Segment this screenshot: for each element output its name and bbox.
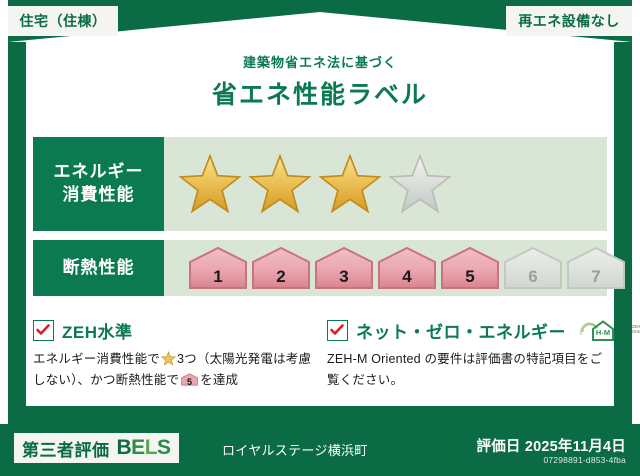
- net-zero-criteria-description: ZEH-M Oriented の要件は評価書の特記項目をご覧ください。: [327, 349, 610, 390]
- net-zero-energy-criteria-block: ネット・ゼロ・エネルギー H-M ZEH-M Oriented ZEH-M Or…: [327, 318, 610, 390]
- insulation-level-6: 6: [503, 246, 563, 290]
- label-title: 省エネ性能ラベル: [0, 75, 640, 111]
- energy-performance-label-box: エネルギー 消費性能: [33, 137, 164, 231]
- zeh-criteria-header: ZEH水準: [33, 318, 316, 342]
- insulation-rating-area: 1 2 3 4: [164, 240, 626, 296]
- net-zero-checkbox[interactable]: [327, 320, 348, 341]
- evaluation-date: 評価日 2025年11月4日: [477, 435, 626, 456]
- net-zero-criteria-header: ネット・ゼロ・エネルギー H-M ZEH-M Oriented: [327, 318, 610, 342]
- inline-house-number: 5: [181, 378, 198, 387]
- insulation-performance-label-box: 断熱性能: [33, 240, 164, 296]
- net-zero-criteria-title: ネット・ゼロ・エネルギー: [356, 318, 566, 343]
- zeh-desc-part1: エネルギー消費性能で: [33, 352, 160, 366]
- insulation-level-1: 1: [188, 246, 248, 290]
- insulation-level-2: 2: [251, 246, 311, 290]
- zeh-checkbox[interactable]: [33, 320, 54, 341]
- insulation-level-7: 7: [566, 246, 626, 290]
- energy-label-line1: エネルギー: [54, 161, 144, 184]
- bels-logo: BELS: [117, 436, 171, 460]
- third-party-evaluation-text: 第三者評価: [22, 436, 110, 461]
- label-subtitle: 建築物省エネ法に基づく: [0, 52, 640, 71]
- zeh-m-logo-icon: H-M: [578, 317, 622, 343]
- check-icon: [329, 322, 345, 338]
- star-icon-empty-4: [388, 153, 452, 215]
- zeh-desc-part3: を達成: [200, 373, 238, 387]
- renewable-equipment-tag: 再エネ設備なし: [506, 6, 632, 36]
- property-name: ロイヤルステージ横浜町: [222, 440, 368, 459]
- energy-performance-row: エネルギー 消費性能: [33, 137, 607, 231]
- inline-house-icon: 5: [181, 372, 198, 387]
- inline-star-icon: [161, 351, 176, 366]
- svg-text:H-M: H-M: [596, 328, 610, 337]
- bels-letter-b: B: [117, 436, 132, 459]
- bels-letter-l: L: [145, 436, 157, 459]
- building-type-tag: 住宅（住棟）: [8, 6, 118, 36]
- zeh-criteria-block: ZEH水準 エネルギー消費性能で3つ（太陽光発電は考慮しない）、かつ断熱性能で5…: [33, 318, 316, 390]
- bels-badge: 第三者評価 BELS: [14, 433, 179, 463]
- star-rating: [178, 153, 452, 215]
- bels-letter-s: S: [157, 436, 171, 459]
- zeh-criteria-description: エネルギー消費性能で3つ（太陽光発電は考慮しない）、かつ断熱性能で5を達成: [33, 349, 316, 390]
- energy-rating-area: [164, 137, 607, 231]
- energy-label-line2: 消費性能: [63, 184, 135, 207]
- energy-performance-label: 住宅（住棟） 再エネ設備なし 建築物省エネ法に基づく 省エネ性能ラベル エネルギ…: [0, 0, 640, 476]
- star-icon-filled-3: [318, 153, 382, 215]
- insulation-level-5: 5: [440, 246, 500, 290]
- zeh-m-logo-caption: ZEH-M Oriented: [632, 325, 640, 334]
- star-icon-filled-1: [178, 153, 242, 215]
- zeh-criteria-title: ZEH水準: [62, 318, 133, 343]
- insulation-level-3: 3: [314, 246, 374, 290]
- insulation-label-line1: 断熱性能: [63, 257, 135, 280]
- zeh-m-caption-line2: Oriented: [632, 329, 640, 334]
- check-icon: [35, 322, 51, 338]
- insulation-performance-row: 断熱性能 1 2: [33, 240, 607, 296]
- title-block: 建築物省エネ法に基づく 省エネ性能ラベル: [0, 52, 640, 111]
- insulation-level-scale: 1 2 3 4: [178, 246, 626, 290]
- bels-letter-e: E: [131, 436, 145, 459]
- star-icon-filled-2: [248, 153, 312, 215]
- insulation-level-4: 4: [377, 246, 437, 290]
- footer-bar: 第三者評価 BELS ロイヤルステージ横浜町 評価日 2025年11月4日 07…: [0, 424, 640, 476]
- evaluation-id: 07298891-d853-4fba: [543, 455, 626, 465]
